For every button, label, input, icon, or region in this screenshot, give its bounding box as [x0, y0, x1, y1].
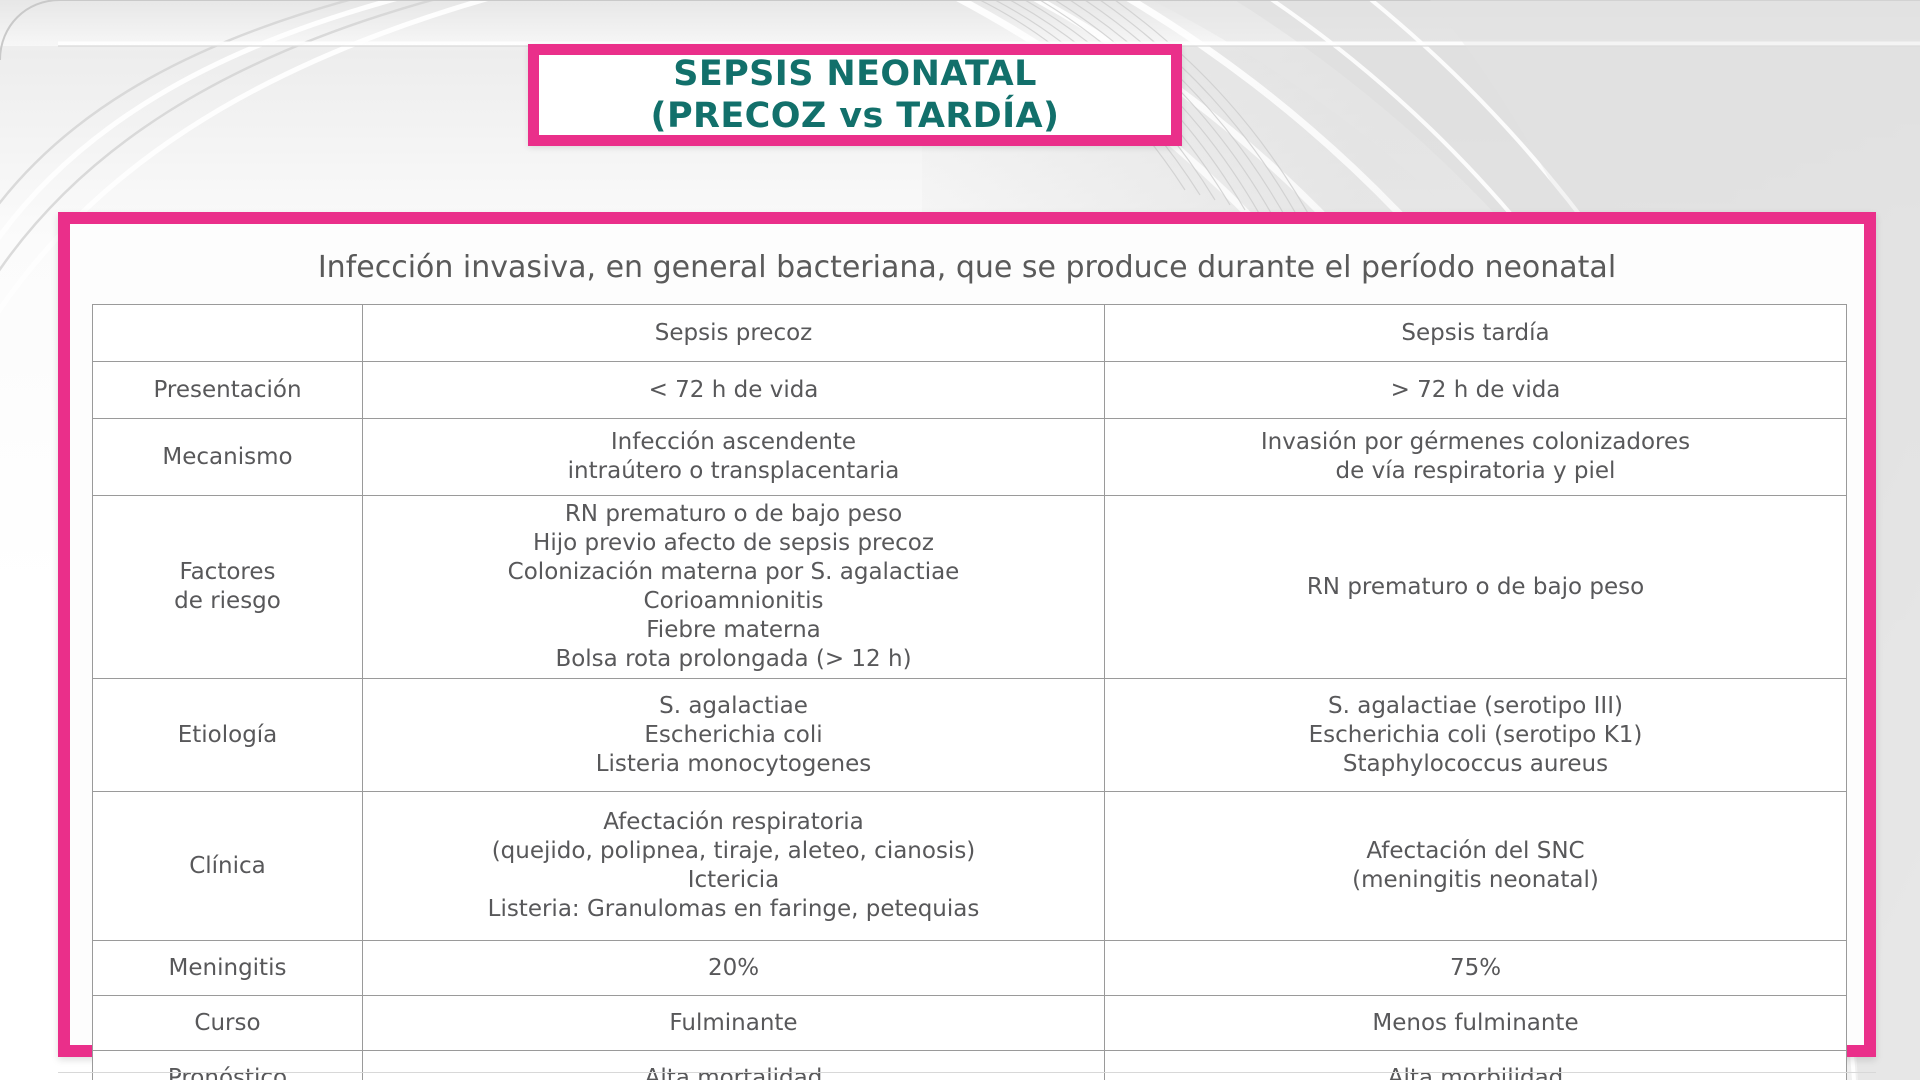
cell-presentacion-late: > 72 h de vida: [1105, 362, 1847, 419]
comparison-table: Sepsis precoz Sepsis tardía Presentación…: [92, 304, 1847, 1080]
cell-line: < 72 h de vida: [369, 376, 1098, 405]
row-label-line: Curso: [99, 1009, 356, 1038]
cell-line: S. agalactiae: [369, 692, 1098, 721]
cell-line: Staphylococcus aureus: [1111, 750, 1840, 779]
table-row: PronósticoAlta mortalidadAlta morbilidad: [93, 1051, 1847, 1080]
cell-line: S. agalactiae (serotipo III): [1111, 692, 1840, 721]
row-label-line: de riesgo: [99, 587, 356, 616]
cell-line: Menos fulminante: [1111, 1009, 1840, 1038]
slide-canvas: SEPSIS NEONATAL (PRECOZ vs TARDÍA) Infec…: [0, 0, 1920, 1080]
cell-etiologia-late: S. agalactiae (serotipo III)Escherichia …: [1105, 679, 1847, 792]
cell-line: RN prematuro o de bajo peso: [1111, 573, 1840, 602]
table-header-row: Sepsis precoz Sepsis tardía: [93, 305, 1847, 362]
cell-presentacion-early: < 72 h de vida: [363, 362, 1105, 419]
row-label-curso: Curso: [93, 996, 363, 1051]
title-line-1: SEPSIS NEONATAL: [673, 53, 1037, 95]
row-label-etiologia: Etiología: [93, 679, 363, 792]
row-label-line: Presentación: [99, 376, 356, 405]
content-panel: Infección invasiva, en general bacterian…: [58, 212, 1876, 1057]
cell-line: Listeria: Granulomas en faringe, petequi…: [369, 895, 1098, 924]
cell-curso-early: Fulminante: [363, 996, 1105, 1051]
header-blank-cell: [93, 305, 363, 362]
cell-line: > 72 h de vida: [1111, 376, 1840, 405]
cell-line: (meningitis neonatal): [1111, 866, 1840, 895]
cell-line: RN prematuro o de bajo peso: [369, 500, 1098, 529]
cell-line: Listeria monocytogenes: [369, 750, 1098, 779]
cell-pronostico-early: Alta mortalidad: [363, 1051, 1105, 1080]
cell-line: Corioamnionitis: [369, 587, 1098, 616]
cell-line: Afectación del SNC: [1111, 837, 1840, 866]
cell-line: Escherichia coli (serotipo K1): [1111, 721, 1840, 750]
cell-line: Ictericia: [369, 866, 1098, 895]
cell-line: 20%: [369, 954, 1098, 983]
row-label-clinica: Clínica: [93, 792, 363, 941]
cell-mecanismo-late: Invasión por gérmenes colonizadoresde ví…: [1105, 419, 1847, 496]
table-row: Presentación< 72 h de vida> 72 h de vida: [93, 362, 1847, 419]
row-label-factores: Factoresde riesgo: [93, 496, 363, 679]
cell-clinica-early: Afectación respiratoria(quejido, polipne…: [363, 792, 1105, 941]
row-label-line: Factores: [99, 558, 356, 587]
cell-curso-late: Menos fulminante: [1105, 996, 1847, 1051]
table-row: Factoresde riesgoRN prematuro o de bajo …: [93, 496, 1847, 679]
row-label-mecanismo: Mecanismo: [93, 419, 363, 496]
table-row: EtiologíaS. agalactiaeEscherichia coliLi…: [93, 679, 1847, 792]
table-row: Meningitis20%75%: [93, 941, 1847, 996]
definition-text: Infección invasiva, en general bacterian…: [92, 238, 1842, 304]
title-line-2: (PRECOZ vs TARDÍA): [651, 95, 1060, 137]
cell-clinica-late: Afectación del SNC(meningitis neonatal): [1105, 792, 1847, 941]
row-label-pronostico: Pronóstico: [93, 1051, 363, 1080]
cell-mecanismo-early: Infección ascendenteintraútero o transpl…: [363, 419, 1105, 496]
cell-line: Bolsa rota prolongada (> 12 h): [369, 645, 1098, 674]
cell-factores-early: RN prematuro o de bajo pesoHijo previo a…: [363, 496, 1105, 679]
cell-meningitis-early: 20%: [363, 941, 1105, 996]
header-sepsis-tardia: Sepsis tardía: [1105, 305, 1847, 362]
header-sepsis-precoz: Sepsis precoz: [363, 305, 1105, 362]
cell-line: de vía respiratoria y piel: [1111, 457, 1840, 486]
cell-meningitis-late: 75%: [1105, 941, 1847, 996]
row-label-line: Mecanismo: [99, 443, 356, 472]
cell-line: (quejido, polipnea, tiraje, aleteo, cian…: [369, 837, 1098, 866]
cell-line: Invasión por gérmenes colonizadores: [1111, 428, 1840, 457]
cell-line: Infección ascendente: [369, 428, 1098, 457]
row-label-line: Meningitis: [99, 954, 356, 983]
cell-line: Colonización materna por S. agalactiae: [369, 558, 1098, 587]
slide-footer-rule: [58, 1072, 1876, 1073]
cell-line: Escherichia coli: [369, 721, 1098, 750]
cell-line: Fiebre materna: [369, 616, 1098, 645]
cell-etiologia-early: S. agalactiaeEscherichia coliListeria mo…: [363, 679, 1105, 792]
title-box: SEPSIS NEONATAL (PRECOZ vs TARDÍA): [528, 44, 1182, 146]
row-label-line: Etiología: [99, 721, 356, 750]
row-label-meningitis: Meningitis: [93, 941, 363, 996]
cell-factores-late: RN prematuro o de bajo peso: [1105, 496, 1847, 679]
cell-pronostico-late: Alta morbilidad: [1105, 1051, 1847, 1080]
cell-line: 75%: [1111, 954, 1840, 983]
row-label-line: Clínica: [99, 852, 356, 881]
row-label-presentacion: Presentación: [93, 362, 363, 419]
table-row: ClínicaAfectación respiratoria(quejido, …: [93, 792, 1847, 941]
background-top-band: [0, 0, 1920, 46]
cell-line: Afectación respiratoria: [369, 808, 1098, 837]
cell-line: Hijo previo afecto de sepsis precoz: [369, 529, 1098, 558]
table-row: MecanismoInfección ascendenteintraútero …: [93, 419, 1847, 496]
cell-line: Fulminante: [369, 1009, 1098, 1038]
cell-line: intraútero o transplacentaria: [369, 457, 1098, 486]
table-row: CursoFulminanteMenos fulminante: [93, 996, 1847, 1051]
